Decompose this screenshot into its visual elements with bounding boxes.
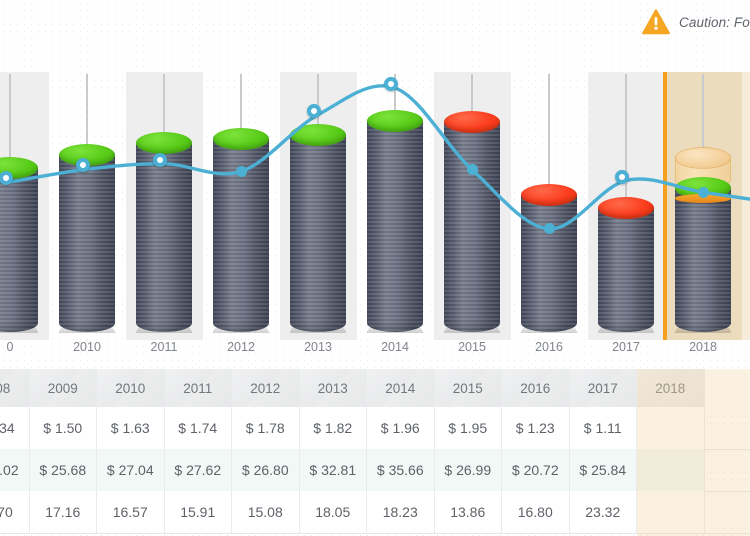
table-row-divider [0,533,750,534]
table-header-2008: 2008 [0,369,30,407]
table-header-2017: 2017 [570,369,638,407]
cell-dividend-row-2011: $ 1.74 [165,407,233,449]
cell-ratio-row-2013: 18.05 [300,491,368,533]
cell-ratio-row-2010: 16.57 [97,491,165,533]
cell-ratio-row-2009: 17.16 [30,491,98,533]
cell-dividend-row-2017: $ 1.11 [570,407,638,449]
table-header-2013: 2013 [300,369,368,407]
line-point-2014[interactable] [384,77,398,91]
line-point-2018[interactable] [698,187,709,198]
x-tick-2011: 2011 [124,340,204,354]
chart-area [0,60,750,340]
cell-ratio-row-2012: 15.08 [232,491,300,533]
caution-banner: Caution: Fore [642,6,750,38]
x-tick-2012: 2012 [201,340,281,354]
line-point-2017[interactable] [615,170,629,184]
plot-region [0,60,750,340]
x-tick-2016: 2016 [509,340,589,354]
cell-ratio-row-2014: 18.23 [367,491,435,533]
cell-price-row-2009: $ 25.68 [30,449,98,491]
cell-dividend-row-2016: $ 1.23 [502,407,570,449]
line-point-2011[interactable] [153,153,167,167]
cell-dividend-row-2018 [637,407,705,449]
dividend-chart-screen: Caution: Fore 02010201120122013201420152… [0,0,750,536]
cell-dividend-row-2010: $ 1.63 [97,407,165,449]
cell-dividend-row-2012: $ 1.78 [232,407,300,449]
x-tick-2014: 2014 [355,340,435,354]
cell-ratio-row-2015: 13.86 [435,491,503,533]
cell-dividend-row-2015: $ 1.95 [435,407,503,449]
table-header-2009: 2009 [30,369,98,407]
x-tick-2013: 2013 [278,340,358,354]
cell-dividend-row-2009: $ 1.50 [30,407,98,449]
price-line [0,60,750,340]
cell-price-row-2008: $ 25.02 [0,449,30,491]
table-header-2015: 2015 [435,369,503,407]
cell-price-row-2013: $ 32.81 [300,449,368,491]
x-axis-labels: 0201020112012201320142015201620172018201… [0,340,750,370]
line-point-2015[interactable] [467,164,478,175]
cell-ratio-row-2017: 23.32 [570,491,638,533]
caution-label: Caution: Fore [679,15,750,30]
cell-price-row-2010: $ 27.04 [97,449,165,491]
cell-price-row-2017: $ 25.84 [570,449,638,491]
cell-price-row-2015: $ 26.99 [435,449,503,491]
line-point-2012[interactable] [236,166,247,177]
line-point-2016[interactable] [544,223,555,234]
cell-dividend-row-2014: $ 1.96 [367,407,435,449]
cell-ratio-row-2016: 16.80 [502,491,570,533]
table-header-2012: 2012 [232,369,300,407]
cell-ratio-row-2018 [637,491,705,533]
cell-price-row-2011: $ 27.62 [165,449,233,491]
cell-ratio-row-2008: 17.70 [0,491,30,533]
cell-price-row-2014: $ 35.66 [367,449,435,491]
cell-price-row-2016: $ 20.72 [502,449,570,491]
x-tick-2017: 2017 [586,340,666,354]
cell-price-row-2012: $ 26.80 [232,449,300,491]
cell-dividend-row-2013: $ 1.82 [300,407,368,449]
table-header-2014: 2014 [367,369,435,407]
cell-price-row-2018 [637,449,705,491]
data-table: 2008200920102011201220132014201520162017… [0,369,750,536]
table-header-2011: 2011 [165,369,233,407]
cell-dividend-row-2008: $ 1.34 [0,407,30,449]
cell-ratio-row-2011: 15.91 [165,491,233,533]
table-header-2018: 2018 [637,369,705,407]
x-tick-2010: 2010 [47,340,127,354]
x-tick-2018: 2018 [663,340,743,354]
x-tick-2015: 2015 [432,340,512,354]
x-tick-2019: 2019 [740,340,750,354]
table-header-2010: 2010 [97,369,165,407]
table-header-2016: 2016 [502,369,570,407]
x-tick-2009: 0 [0,340,50,354]
warning-triangle-icon [642,9,670,35]
line-point-2013[interactable] [307,104,321,118]
